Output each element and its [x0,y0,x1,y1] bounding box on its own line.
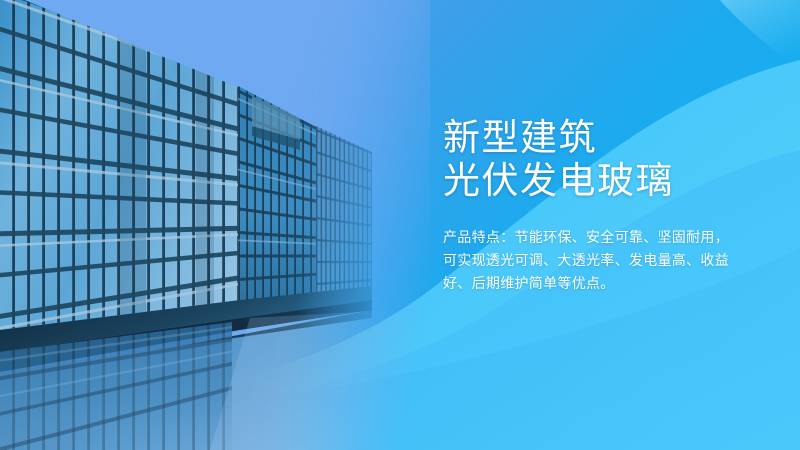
photo-edge-fade [300,0,430,450]
headline-line-2: 光伏发电玻璃 [443,159,773,202]
headline-line-1: 新型建筑 [443,116,773,159]
promo-banner: 新型建筑 光伏发电玻璃 产品特点：节能环保、安全可靠、坚固耐用，可实现透光可调、… [0,0,800,450]
building-facade-illustration [0,0,430,450]
copy-block: 新型建筑 光伏发电玻璃 产品特点：节能环保、安全可靠、坚固耐用，可实现透光可调、… [443,116,773,295]
body-text: 产品特点：节能环保、安全可靠、坚固耐用，可实现透光可调、大透光率、发电量高、收益… [443,226,743,295]
building-photo [0,0,430,450]
